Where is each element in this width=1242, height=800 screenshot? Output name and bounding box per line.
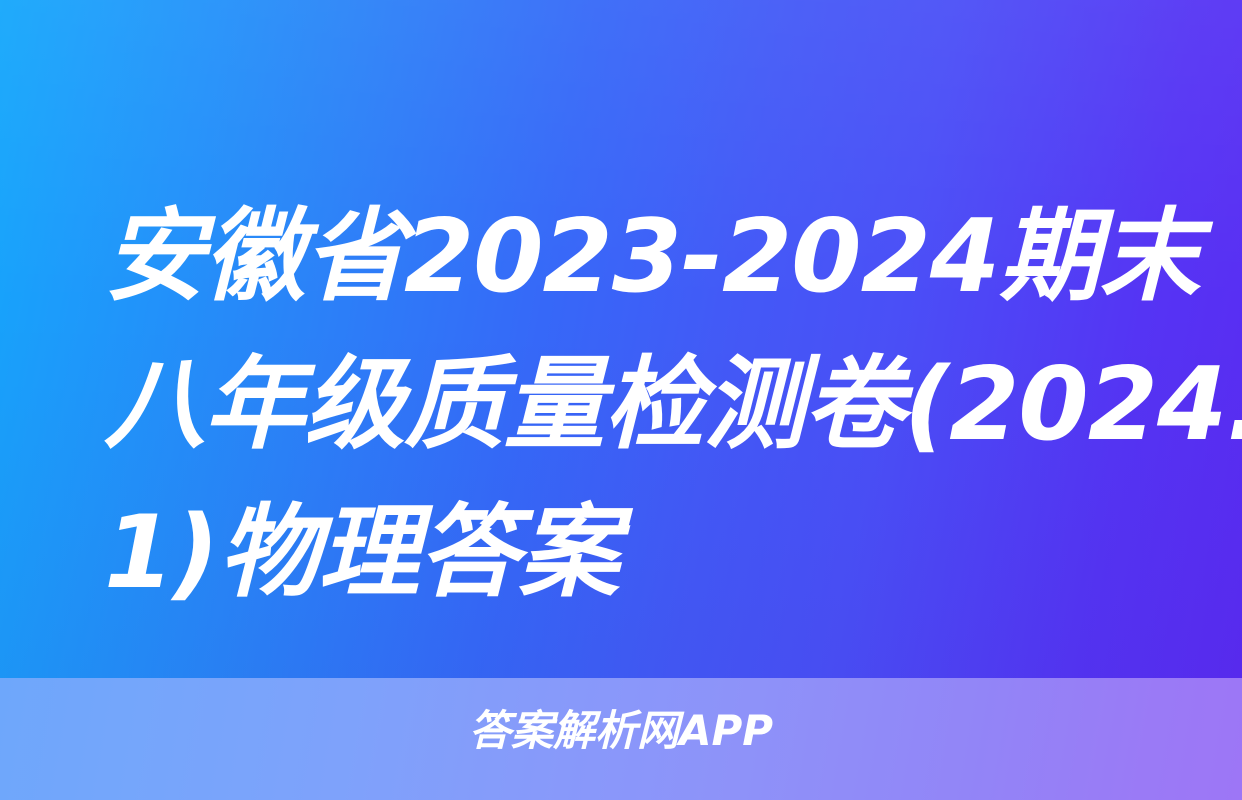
page-title: 安徽省2023-2024期末 八年级质量检测卷(2024. 1)物理答案: [104, 182, 1182, 626]
title-line-2: 八年级质量检测卷(2024.: [104, 330, 1182, 478]
watermark: 答案解析网APP: [0, 707, 1242, 755]
watermark-label: 答案解析网APP: [469, 707, 773, 755]
poster-canvas: 安徽省2023-2024期末 八年级质量检测卷(2024. 1)物理答案 答案解…: [0, 0, 1242, 800]
title-line-3: 1)物理答案: [104, 478, 1182, 626]
title-line-1: 安徽省2023-2024期末: [104, 182, 1182, 330]
